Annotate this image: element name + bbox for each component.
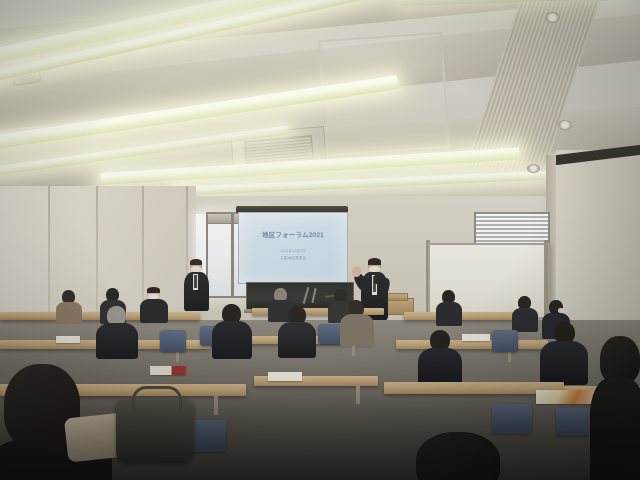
attendee-hair <box>416 432 500 480</box>
attendee-torso <box>340 314 374 346</box>
attendee-hair <box>600 336 640 384</box>
ceiling <box>0 0 640 205</box>
attendee-torso <box>212 321 252 359</box>
presenter-hand <box>352 266 361 277</box>
necktie <box>194 275 197 288</box>
attendee-torso <box>56 302 82 324</box>
slide-subtitle-1: 2021年12月7日 <box>239 249 347 254</box>
desk-leg <box>356 386 360 404</box>
chair <box>556 408 590 436</box>
attendee <box>540 322 588 382</box>
projection-screen: 地区フォーラム2021 2021年12月7日 主催 地区委員会 <box>238 212 348 284</box>
attendee-torso <box>590 378 640 480</box>
attendee-torso <box>436 302 462 326</box>
attendee <box>340 300 374 342</box>
recessed-downlight <box>558 120 572 130</box>
presenter-standing-left <box>182 259 212 311</box>
chair <box>318 324 342 344</box>
desk <box>404 312 528 320</box>
papers <box>462 334 490 341</box>
recessed-downlight <box>527 164 540 173</box>
chalk-mark <box>311 288 316 303</box>
attendee <box>96 306 138 354</box>
papers <box>150 366 186 375</box>
papers <box>268 372 302 381</box>
attendee <box>512 296 538 330</box>
microphone <box>374 275 378 284</box>
attendee <box>140 287 168 322</box>
attendee-torso <box>278 322 316 358</box>
attendee-foreground-far-right <box>596 336 640 480</box>
handbag-handle <box>132 386 182 411</box>
attendee-torso <box>512 308 538 332</box>
seminar-room-photo: 地区フォーラム2021 2021年12月7日 主催 地区委員会 <box>0 0 640 480</box>
attendee <box>418 330 462 386</box>
papers <box>56 336 80 343</box>
attendee-hair <box>147 287 160 293</box>
attendee-torso <box>540 341 588 385</box>
attendee <box>436 290 462 324</box>
attendee-foreground-right <box>404 432 512 480</box>
chair <box>492 404 532 434</box>
attendee <box>278 306 316 354</box>
chalk-mark <box>303 287 310 304</box>
slide-subtitle-2: 主催 地区委員会 <box>239 256 347 261</box>
desk-leg <box>214 395 218 415</box>
attendee <box>212 304 252 354</box>
presenter-hair <box>368 258 381 265</box>
attendee-torso <box>96 323 138 359</box>
chair <box>160 330 186 352</box>
slide-title: 地区フォーラム2021 <box>239 229 347 239</box>
attendee <box>56 290 82 322</box>
recessed-downlight <box>545 12 560 23</box>
presenter2-hair <box>190 259 202 265</box>
window-mullion <box>231 214 234 296</box>
attendee-torso <box>140 299 168 323</box>
chair <box>492 330 518 352</box>
